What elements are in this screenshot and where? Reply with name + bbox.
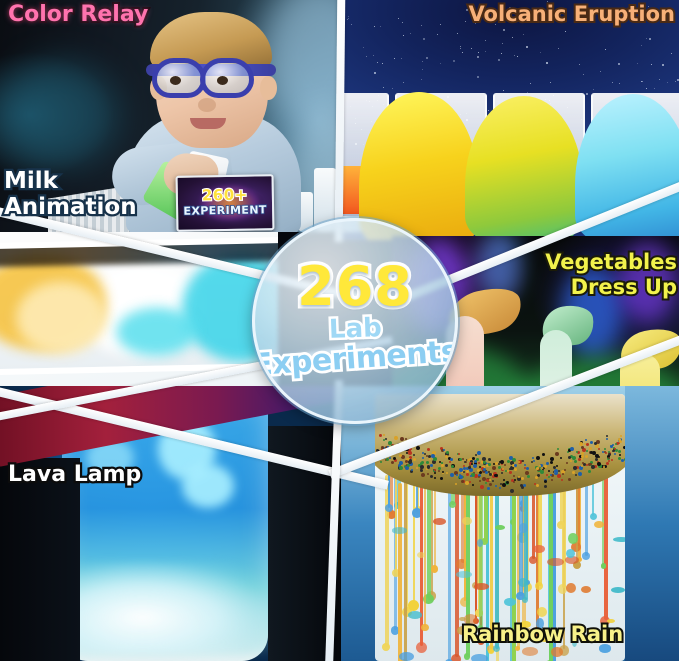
product-box-thumbnail: 260+ EXPERIMENT (176, 174, 275, 232)
light-glow (46, 562, 276, 654)
eye (170, 76, 181, 85)
badge-line-2: Experiments (252, 337, 458, 381)
smoke-effect (620, 242, 676, 322)
panel-rainbow-rain (341, 386, 679, 661)
dark-background (0, 458, 80, 661)
product-collage: 260+ EXPERIMENT (0, 0, 679, 661)
panel-milk-animation (0, 232, 278, 386)
ear (260, 76, 277, 100)
water-background (341, 386, 379, 661)
rainbow-rain-container (375, 394, 625, 661)
eye (217, 76, 228, 85)
lava-blob (182, 464, 234, 508)
yellow-dye (15, 281, 106, 355)
cyan-dye (116, 307, 197, 357)
nose (198, 98, 216, 112)
mouth (190, 118, 226, 129)
panel-lava-lamp (0, 386, 341, 661)
milk-tray (0, 237, 278, 375)
smoke-effect (0, 60, 120, 170)
beaker-row (343, 58, 679, 218)
badge-count: 268 (297, 262, 413, 312)
panel-color-relay: 260+ EXPERIMENT (0, 0, 341, 232)
mini-box-count: 260+ (178, 185, 272, 205)
experiment-count-badge: 268 Lab Experiments (252, 218, 458, 424)
water-background (625, 386, 679, 661)
mini-box-word: EXPERIMENT (178, 203, 272, 218)
